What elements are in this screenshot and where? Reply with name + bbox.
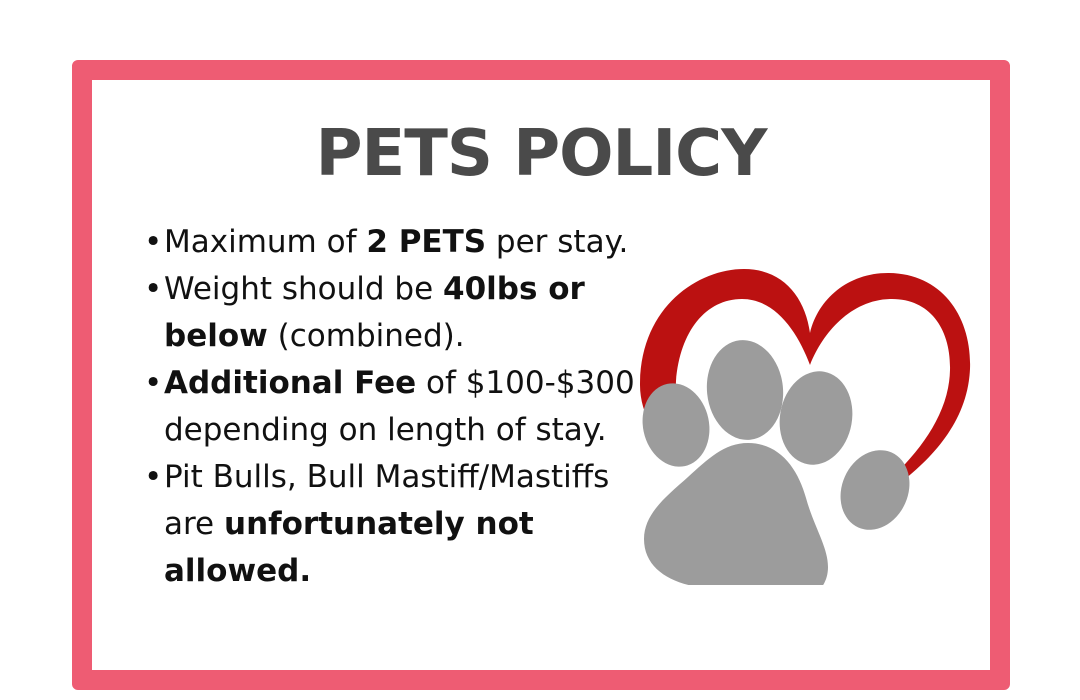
list-item-text: Pit Bulls, Bull Mastiff/Mastiffs are unf…: [164, 459, 609, 589]
paw-toe-inner-left: [702, 336, 788, 443]
paw-toe-inner-right: [772, 365, 859, 470]
policy-list: • Maximum of 2 PETS per stay. • Weight s…: [142, 219, 652, 595]
bullet-marker-icon: •: [144, 266, 162, 313]
list-item: • Maximum of 2 PETS per stay.: [142, 219, 652, 266]
list-item-text: Weight should be 40lbs or below (combine…: [164, 271, 585, 354]
list-item-text: Additional Fee of $100-$300 depending on…: [164, 365, 635, 448]
bullet-marker-icon: •: [144, 454, 162, 501]
list-item: • Additional Fee of $100-$300 depending …: [142, 360, 652, 454]
list-item: • Pit Bulls, Bull Mastiff/Mastiffs are u…: [142, 454, 652, 595]
page-title: PETS POLICY: [92, 118, 990, 190]
pets-policy-poster: PETS POLICY • Maximum of 2 PETS per stay…: [0, 0, 1080, 700]
paw-print-icon: [635, 336, 922, 585]
bullet-marker-icon: •: [144, 219, 162, 266]
heart-paw-logo: [620, 255, 990, 585]
paw-toe-outer-right: [828, 439, 922, 541]
list-item: • Weight should be 40lbs or below (combi…: [142, 266, 652, 360]
list-item-text: Maximum of 2 PETS per stay.: [164, 224, 628, 260]
bullet-marker-icon: •: [144, 360, 162, 407]
